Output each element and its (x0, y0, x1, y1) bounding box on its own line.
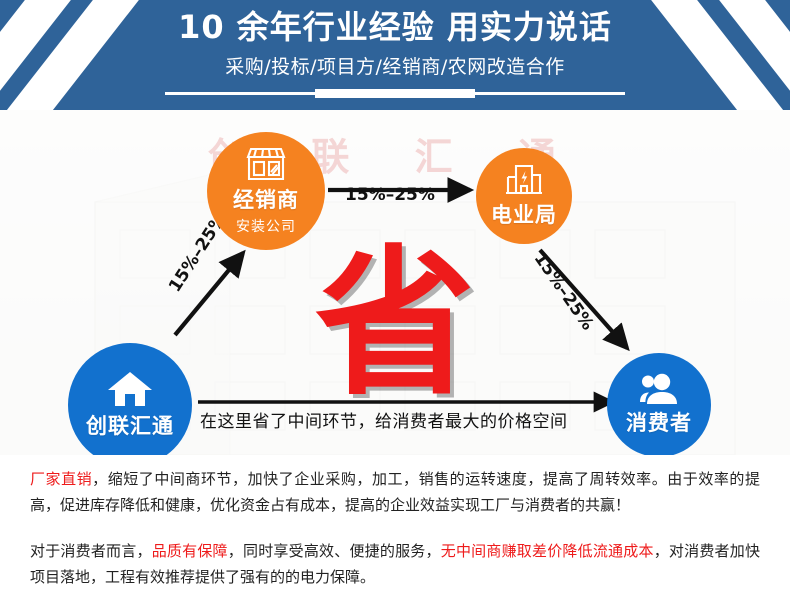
node-consumer-label: 消费者 (626, 407, 692, 437)
paragraph-1-highlight: 厂家直销 (30, 470, 92, 488)
header-divider-line (165, 92, 625, 95)
node-dealer-sublabel: 安装公司 (236, 216, 296, 236)
header-title: 10 余年行业经验 用实力说话 (0, 0, 790, 46)
home-icon (107, 370, 153, 408)
header-text-block: 10 余年行业经验 用实力说话 采购/投标/项目方/经销商/农网改造合作 (0, 0, 790, 79)
node-bureau[interactable]: 电业局 (476, 148, 572, 244)
description-paragraph-1: 厂家直销，缩短了中间商环节，加快了企业采购，加工，销售的运转速度，提高了周转效率… (0, 455, 790, 518)
paragraph-2-highlight-1: 品质有保障 (152, 542, 228, 560)
header-band: 10 余年行业经验 用实力说话 采购/投标/项目方/经销商/农网改造合作 (0, 0, 790, 110)
power-building-icon (504, 163, 544, 197)
node-factory-label: 创联汇通 (86, 410, 174, 440)
paragraph-2-lead: 对于消费者而言， (30, 542, 152, 560)
paragraph-1-text: ，缩短了中间商环节，加快了企业采购，加工，销售的运转速度，提高了周转效率。由于效… (30, 470, 760, 514)
description-block: 厂家直销，缩短了中间商环节，加快了企业采购，加工，销售的运转速度，提高了周转效率… (0, 455, 790, 600)
promo-banner: 10 余年行业经验 用实力说话 采购/投标/项目方/经销商/农网改造合作 (0, 0, 790, 600)
node-consumer[interactable]: 消费者 (607, 353, 711, 455)
arrow-label-dealer-to-bureau: 15%–25% (345, 185, 435, 205)
node-factory[interactable]: 创联汇通 (68, 343, 192, 455)
header-subtitle: 采购/投标/项目方/经销商/农网改造合作 (0, 46, 790, 79)
arrow-label-factory-to-consumer: 在这里省了中间环节，给消费者最大的价格空间 (200, 407, 568, 432)
background-watermark: 创 联 汇 通 (0, 126, 790, 181)
paragraph-2-middle: ，同时享受高效、便捷的服务， (228, 542, 441, 560)
node-dealer-label: 经销商 (233, 184, 299, 214)
users-icon (638, 373, 680, 405)
savings-character: 省 (315, 244, 475, 404)
paragraph-2-highlight-2: 无中间商赚取差价降低流通成本 (441, 542, 654, 560)
description-paragraph-2: 对于消费者而言，品质有保障，同时享受高效、便捷的服务，无中间商赚取差价降低流通成… (0, 518, 790, 590)
header-divider (0, 88, 790, 98)
flow-diagram: 创 联 汇 通 省 15%–25% 15%–25% 15%–25% 在这里省了中… (0, 110, 790, 455)
node-dealer[interactable]: 经销商 安装公司 (207, 132, 325, 250)
shop-icon (243, 146, 289, 182)
node-bureau-label: 电业局 (491, 199, 557, 229)
header-divider-center (315, 89, 475, 98)
